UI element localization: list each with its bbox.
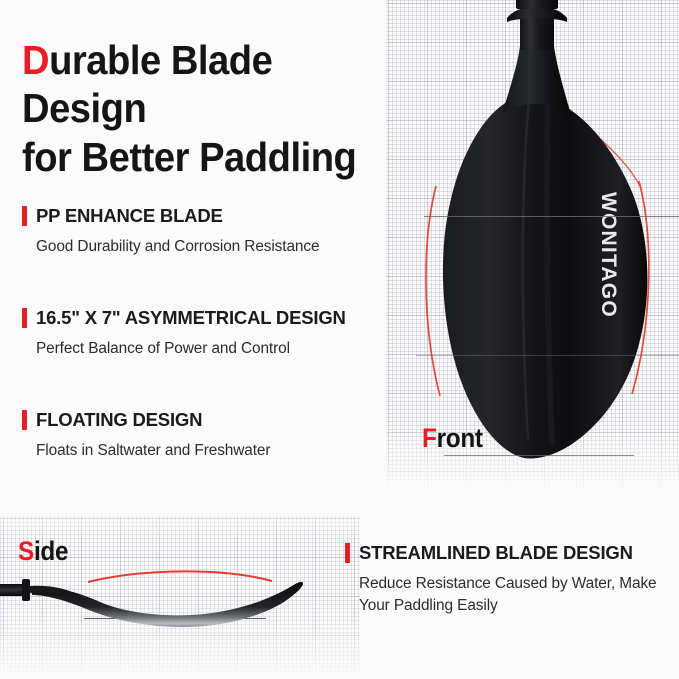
shaft-upper-segment (516, 0, 558, 9)
bullet-marker-icon (22, 308, 27, 328)
feature-title: PP ENHANCE BLADE (36, 205, 223, 227)
feature-heading: FLOATING DESIGN (22, 409, 270, 431)
feature-title: STREAMLINED BLADE DESIGN (359, 542, 633, 564)
headline-accent-letter: D (22, 37, 49, 83)
feature-subtitle: Reduce Resistance Caused by Water, Make … (359, 573, 659, 618)
product-infographic: WONITAGO D (0, 0, 679, 679)
view-label-side-rest: ide (34, 536, 68, 566)
measure-line-top (424, 216, 679, 217)
headline-line2: for Better Paddling (22, 134, 356, 180)
measure-line-tip (444, 455, 634, 456)
feature-item-floating-design: FLOATING DESIGN Floats in Saltwater and … (22, 409, 270, 462)
view-label-side-accent: S (18, 536, 34, 566)
headline-line1: urable Blade Design (22, 37, 272, 131)
page-title: Durable Blade Design for Better Paddling (22, 36, 366, 181)
brand-label: WONITAGO (597, 192, 620, 318)
view-label-front: Front (422, 423, 483, 454)
measure-line-mid (416, 355, 679, 356)
feature-item-pp-enhance-blade: PP ENHANCE BLADE Good Durability and Cor… (22, 205, 319, 258)
paddle-shaft (520, 18, 554, 50)
feature-subtitle: Good Durability and Corrosion Resistance (36, 236, 319, 258)
paddle-front-view-illustration: WONITAGO (396, 0, 679, 466)
side-accent-curve (88, 571, 272, 582)
feature-item-streamlined-blade-design: STREAMLINED BLADE DESIGN Reduce Resistan… (345, 542, 659, 618)
bullet-marker-icon (345, 543, 350, 563)
view-label-front-accent: F (422, 423, 437, 453)
accent-curve-left (426, 186, 440, 396)
feature-title: 16.5" X 7" ASYMMETRICAL DESIGN (36, 307, 346, 329)
bullet-marker-icon (22, 206, 27, 226)
bullet-marker-icon (22, 410, 27, 430)
view-label-front-rest: ront (437, 423, 483, 453)
feature-heading: STREAMLINED BLADE DESIGN (345, 542, 659, 564)
feature-subtitle: Perfect Balance of Power and Control (36, 338, 346, 360)
feature-item-asymmetrical-design: 16.5" X 7" ASYMMETRICAL DESIGN Perfect B… (22, 307, 346, 360)
paddle-side-view-illustration (0, 560, 346, 632)
feature-title: FLOATING DESIGN (36, 409, 202, 431)
feature-heading: PP ENHANCE BLADE (22, 205, 319, 227)
feature-heading: 16.5" X 7" ASYMMETRICAL DESIGN (22, 307, 346, 329)
side-blade-profile (32, 582, 303, 627)
feature-subtitle: Floats in Saltwater and Freshwater (36, 440, 270, 462)
view-label-side: Side (18, 536, 68, 567)
side-collar (22, 579, 30, 601)
